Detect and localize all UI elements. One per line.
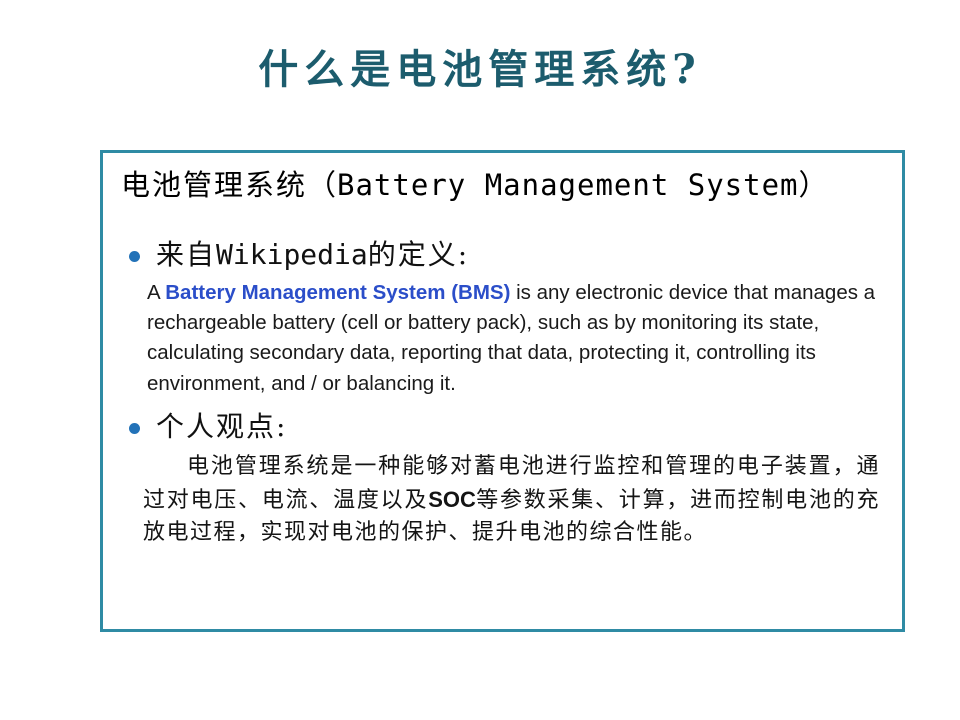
bullet-label-personal-view: 个人观点: <box>156 409 287 445</box>
definition-highlight: Battery Management System (BMS) <box>165 281 510 304</box>
content-box: 电池管理系统（Battery Management System） 来自Wiki… <box>100 150 905 632</box>
box-heading-latin: （Battery Management System） <box>307 168 829 202</box>
slide-root: 什么是电池管理系统? 电池管理系统（Battery Management Sys… <box>0 0 960 720</box>
box-heading: 电池管理系统（Battery Management System） <box>121 167 884 203</box>
personal-view-acronym: SOC <box>428 487 476 512</box>
bullet-item-wikipedia: 来自Wikipedia的定义: <box>121 237 884 273</box>
bullet-item-personal-view: 个人观点: <box>121 409 884 445</box>
box-heading-cjk: 电池管理系统 <box>121 168 307 202</box>
bullet-dot-icon <box>129 251 140 262</box>
bullet-label-suffix: 的定义: <box>368 238 469 271</box>
definition-paragraph: A Battery Management System (BMS) is any… <box>121 278 884 399</box>
bullet-label-wikipedia: 来自Wikipedia的定义: <box>156 237 469 273</box>
bullet-dot-icon <box>129 423 140 434</box>
definition-lead: A <box>147 281 165 304</box>
page-title: 什么是电池管理系统? <box>0 48 960 92</box>
bullet-label-latin: Wikipedia <box>216 238 368 271</box>
bullet-label-prefix: 来自 <box>156 238 216 271</box>
personal-view-paragraph: 电池管理系统是一种能够对蓄电池进行监控和管理的电子装置，通过对电压、电流、温度以… <box>121 451 884 550</box>
